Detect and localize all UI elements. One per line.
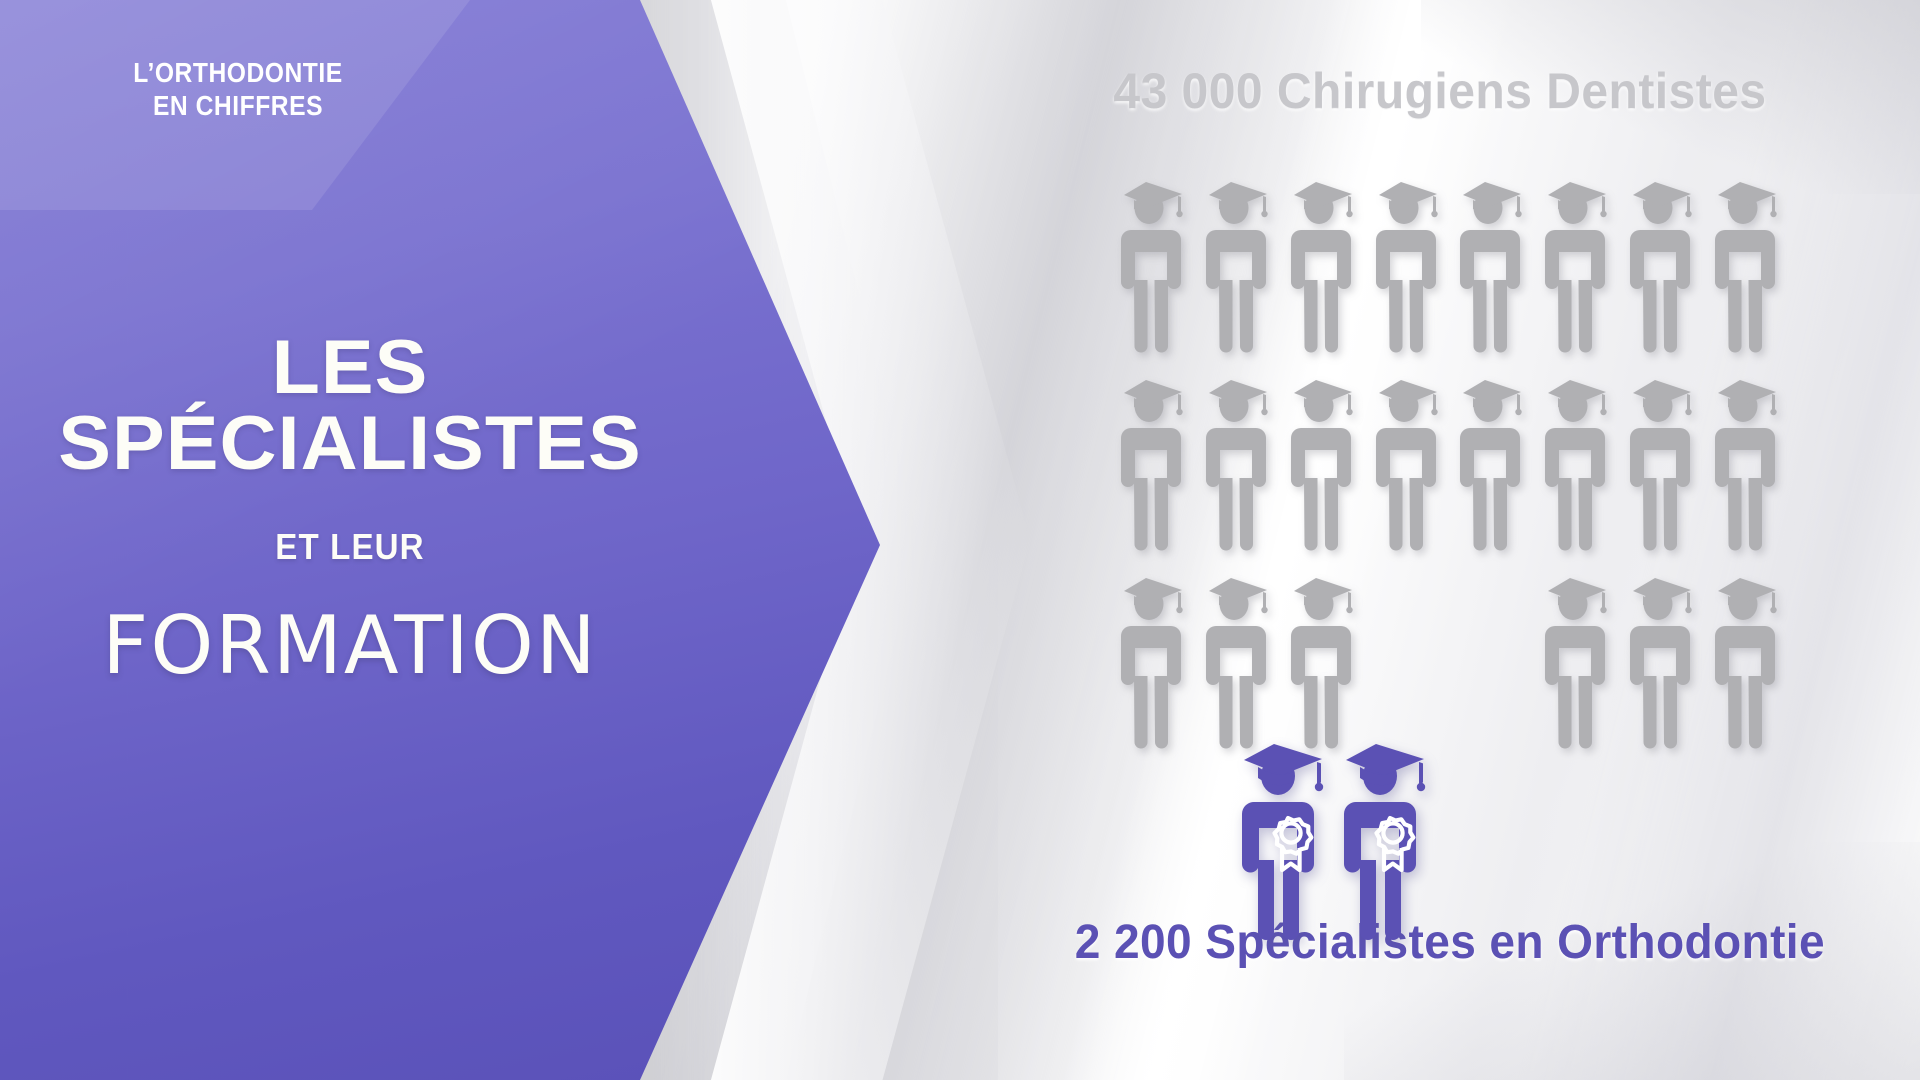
pictogram-row <box>1118 576 1778 752</box>
dentist-figure-icon <box>1118 576 1184 752</box>
dentist-figure-icon <box>1712 576 1778 752</box>
pictogram-chart <box>1118 180 1778 880</box>
infographic-slide: L’ORTHODONTIE EN CHIFFRES LES SPÉCIALIST… <box>0 0 1920 1080</box>
dentist-figure-icon <box>1542 576 1608 752</box>
dentist-figure-icon <box>1288 378 1354 554</box>
dentist-figure-icon <box>1457 180 1523 356</box>
dentist-figure-icon <box>1288 180 1354 356</box>
dentist-figure-icon <box>1373 180 1439 356</box>
page-title: LES SPÉCIALISTES ET LEUR FORMATION <box>0 330 700 686</box>
eyebrow-line-1: L’ORTHODONTIE <box>71 56 405 89</box>
dentist-figure-icon <box>1118 180 1184 356</box>
dentist-figure-icon <box>1712 180 1778 356</box>
dentist-figure-icon <box>1712 378 1778 554</box>
dentist-figure-icon <box>1627 378 1693 554</box>
specialist-figure-group <box>1238 740 1438 940</box>
dentist-figure-icon <box>1627 180 1693 356</box>
eyebrow-line-2: EN CHIFFRES <box>71 89 405 122</box>
pictogram-gap-slot <box>1373 576 1439 752</box>
dentist-figure-icon <box>1203 576 1269 752</box>
specialist-figure-icon <box>1340 740 1428 940</box>
dentist-figure-icon <box>1457 378 1523 554</box>
dentist-figure-icon <box>1203 180 1269 356</box>
dentist-figure-icon <box>1542 378 1608 554</box>
pictogram-gap-slot <box>1457 576 1523 752</box>
heading-sub: ET LEUR <box>28 526 672 568</box>
dentist-figure-icon <box>1542 180 1608 356</box>
dentist-figure-icon <box>1118 378 1184 554</box>
heading-main: LES SPÉCIALISTES <box>0 330 714 482</box>
dentists-total-label: 43 000 Chirugiens Dentistes <box>1104 62 1776 120</box>
heading-big: FORMATION <box>0 606 700 686</box>
dentist-figure-icon <box>1373 378 1439 554</box>
dentist-figure-icon <box>1203 378 1269 554</box>
pictogram-row <box>1118 378 1778 554</box>
eyebrow-label: L’ORTHODONTIE EN CHIFFRES <box>48 56 428 122</box>
dentist-figure-icon <box>1288 576 1354 752</box>
pictogram-row <box>1118 180 1778 356</box>
dentist-figure-icon <box>1627 576 1693 752</box>
specialist-figure-icon <box>1238 740 1326 940</box>
